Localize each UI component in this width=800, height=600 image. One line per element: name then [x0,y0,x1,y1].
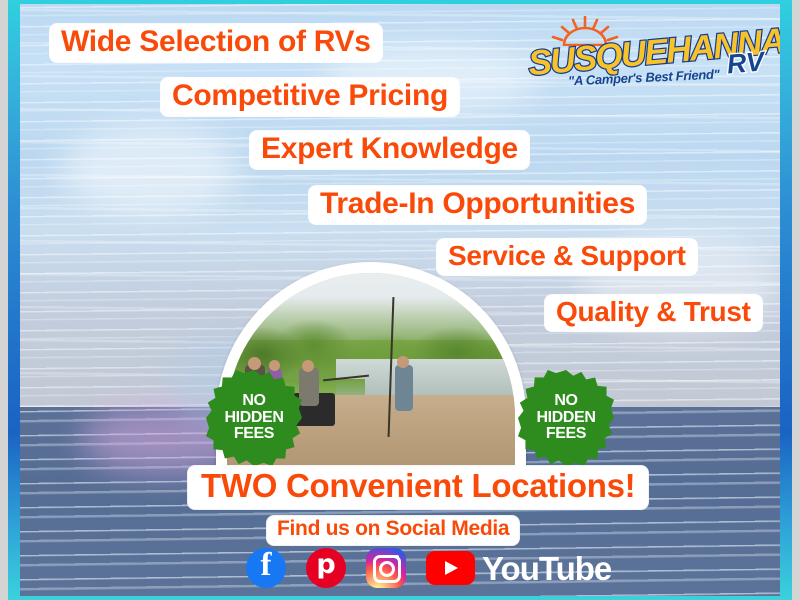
background-cloud-blotch [60,124,240,214]
youtube-link[interactable]: YouTube [426,551,611,585]
instagram-dot [395,555,399,559]
headline-trade-in-opportunities: Trade-In Opportunities [309,186,646,224]
youtube-play-icon[interactable] [426,551,475,585]
headline-wide-selection: Wide Selection of RVs [50,24,382,62]
find-us-on-social-media-text: Find us on Social Media [267,516,519,545]
instagram-link[interactable] [366,548,406,588]
photo-person-adult [299,368,319,406]
social-media-icon-row: YouTube [246,548,611,588]
badge-line-3: FEES [537,426,596,442]
rv-dealer-ad-banner: SUSQUEHANNA RV "A Camper's Best Friend" … [8,0,792,600]
facebook-icon[interactable] [246,548,286,588]
photo-person-head [302,360,314,372]
headline-expert-knowledge: Expert Knowledge [250,131,529,169]
pinterest-link[interactable] [306,548,346,588]
badge-line-2: HIDDEN [225,410,284,426]
instagram-icon[interactable] [366,548,406,588]
badge-line-2: HIDDEN [537,410,596,426]
facebook-link[interactable] [246,548,286,588]
photo-person-head [269,360,280,371]
badge-line-1: NO [225,393,284,409]
photo-person-boy [395,365,413,411]
logo-rv-text: RV [726,46,765,80]
susquehanna-rv-logo[interactable]: SUSQUEHANNA RV "A Camper's Best Friend" [528,18,760,84]
pinterest-icon[interactable] [306,548,346,588]
headline-competitive-pricing: Competitive Pricing [161,78,459,116]
headline-quality-trust: Quality & Trust [545,295,762,331]
banner-content-area: SUSQUEHANNA RV "A Camper's Best Friend" … [20,4,780,596]
instagram-lens [379,561,395,577]
youtube-label: YouTube [482,552,611,585]
badge-line-3: FEES [225,426,284,442]
two-convenient-locations-text: TWO Convenient Locations! [188,466,648,509]
badge-line-1: NO [537,393,596,409]
photo-person-head [248,357,261,370]
headline-service-support: Service & Support [437,239,697,275]
photo-person-head [397,356,409,368]
